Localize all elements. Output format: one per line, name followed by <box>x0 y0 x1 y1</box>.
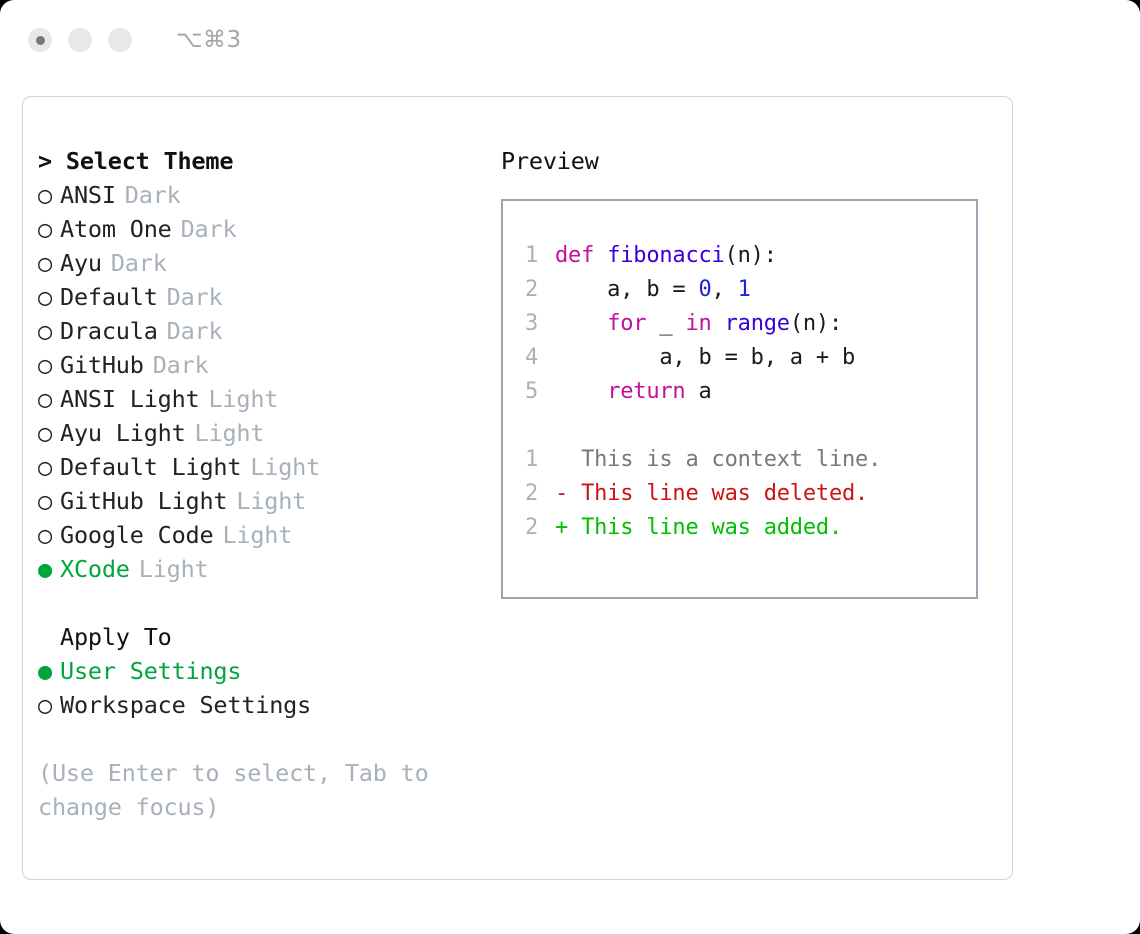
theme-variant-tag: Dark <box>125 178 181 212</box>
panel-columns: > Select Theme ○ANSIDark○Atom OneDark○Ay… <box>23 97 1012 879</box>
app-window: ⌥⌘3 > Select Theme ○ANSIDark○Atom OneDar… <box>0 0 1140 934</box>
theme-list-item[interactable]: ○AyuDark <box>38 246 498 280</box>
diff-line-number: 1 <box>525 443 555 477</box>
select-theme-heading: > Select Theme <box>38 144 498 178</box>
radio-unselected-icon[interactable]: ○ <box>38 688 60 722</box>
code-line-content: def fibonacci(n): <box>555 239 777 273</box>
radio-unselected-icon[interactable]: ○ <box>38 178 60 212</box>
code-line-content: a, b = 0, 1 <box>555 273 751 307</box>
preview-spacer <box>525 409 976 443</box>
radio-unselected-icon[interactable]: ○ <box>38 280 60 314</box>
theme-variant-tag: Light <box>195 416 265 450</box>
code-token-plain <box>555 311 607 336</box>
theme-list-item[interactable]: ○ANSI LightLight <box>38 382 498 416</box>
theme-variant-tag: Light <box>208 382 278 416</box>
radio-selected-icon[interactable]: ● <box>38 552 60 586</box>
preview-column: Preview 1def fibonacci(n):2 a, b = 0, 13… <box>501 144 1001 599</box>
line-number: 3 <box>525 307 555 341</box>
theme-name-label: Default <box>60 280 158 314</box>
diff-line-content-del: - This line was deleted. <box>555 477 868 511</box>
keyboard-shortcut-label: ⌥⌘3 <box>176 27 242 53</box>
code-token-plain: a, b = b, a + b <box>555 345 855 370</box>
code-token-kw: def <box>555 243 594 268</box>
keyboard-hint-text: (Use Enter to select, Tab to change focu… <box>38 756 448 824</box>
radio-unselected-icon[interactable]: ○ <box>38 348 60 382</box>
apply-to-option-label: Workspace Settings <box>60 688 311 722</box>
code-line: 1def fibonacci(n): <box>525 239 976 273</box>
radio-unselected-icon[interactable]: ○ <box>38 450 60 484</box>
theme-name-label: GitHub Light <box>60 484 227 518</box>
code-token-plain: (n): <box>790 311 842 336</box>
window-dot-active[interactable] <box>28 28 52 52</box>
apply-to-section: Apply To ●User Settings○Workspace Settin… <box>38 620 498 722</box>
preview-heading: Preview <box>501 144 1001 178</box>
theme-list-item[interactable]: ○GitHubDark <box>38 348 498 382</box>
radio-selected-icon[interactable]: ● <box>38 654 60 688</box>
code-token-plain: a, b = <box>555 277 699 302</box>
code-token-kw: for <box>607 311 646 336</box>
diff-line-content-ctx: This is a context line. <box>555 443 881 477</box>
code-token-kw: return <box>607 379 685 404</box>
code-token-plain: _ <box>646 311 685 336</box>
theme-variant-tag: Light <box>222 518 292 552</box>
theme-name-label: GitHub <box>60 348 144 382</box>
window-dot-2[interactable] <box>68 28 92 52</box>
main-panel: > Select Theme ○ANSIDark○Atom OneDark○Ay… <box>22 96 1013 880</box>
apply-to-option-label: User Settings <box>60 654 241 688</box>
code-sample-block: 1def fibonacci(n):2 a, b = 0, 13 for _ i… <box>525 239 976 409</box>
radio-unselected-icon[interactable]: ○ <box>38 484 60 518</box>
diff-line-number: 2 <box>525 477 555 511</box>
code-line: 4 a, b = b, a + b <box>525 341 976 375</box>
code-line: 2 a, b = 0, 1 <box>525 273 976 307</box>
theme-name-label: XCode <box>60 552 130 586</box>
line-number: 4 <box>525 341 555 375</box>
theme-name-label: ANSI <box>60 178 116 212</box>
theme-list-item[interactable]: ○DraculaDark <box>38 314 498 348</box>
theme-name-label: Atom One <box>60 212 172 246</box>
diff-line: 2+ This line was added. <box>525 511 976 545</box>
theme-selector-column: > Select Theme ○ANSIDark○Atom OneDark○Ay… <box>38 144 498 824</box>
apply-to-list: ●User Settings○Workspace Settings <box>38 654 498 722</box>
code-line: 5 return a <box>525 375 976 409</box>
theme-variant-tag: Dark <box>153 348 209 382</box>
code-line-content: return a <box>555 375 712 409</box>
line-number: 1 <box>525 239 555 273</box>
window-dot-active-inner <box>36 36 45 45</box>
radio-unselected-icon[interactable]: ○ <box>38 314 60 348</box>
theme-name-label: Ayu <box>60 246 102 280</box>
theme-list-item[interactable]: ○Atom OneDark <box>38 212 498 246</box>
radio-unselected-icon[interactable]: ○ <box>38 382 60 416</box>
code-token-plain <box>594 243 607 268</box>
theme-list-item[interactable]: ○ANSIDark <box>38 178 498 212</box>
code-token-plain: , <box>712 277 738 302</box>
theme-list-item[interactable]: ○Google CodeLight <box>38 518 498 552</box>
theme-list-item[interactable]: ●XCodeLight <box>38 552 498 586</box>
theme-variant-tag: Light <box>139 552 209 586</box>
theme-list-item[interactable]: ○DefaultDark <box>38 280 498 314</box>
code-token-num: 1 <box>738 277 751 302</box>
code-token-plain <box>555 379 607 404</box>
theme-variant-tag: Light <box>250 450 320 484</box>
window-dot-3[interactable] <box>108 28 132 52</box>
apply-to-option[interactable]: ○Workspace Settings <box>38 688 498 722</box>
theme-variant-tag: Light <box>236 484 306 518</box>
theme-variant-tag: Dark <box>167 314 223 348</box>
diff-sample-block: 1 This is a context line.2- This line wa… <box>525 443 976 545</box>
line-number: 2 <box>525 273 555 307</box>
diff-line: 1 This is a context line. <box>525 443 976 477</box>
line-number: 5 <box>525 375 555 409</box>
radio-unselected-icon[interactable]: ○ <box>38 246 60 280</box>
theme-name-label: Ayu Light <box>60 416 186 450</box>
theme-list-item[interactable]: ○GitHub LightLight <box>38 484 498 518</box>
theme-name-label: ANSI Light <box>60 382 199 416</box>
code-token-plain: a <box>685 379 711 404</box>
theme-name-label: Dracula <box>60 314 158 348</box>
theme-variant-tag: Dark <box>181 212 237 246</box>
code-token-num: 0 <box>699 277 712 302</box>
code-token-plain: (n): <box>725 243 777 268</box>
titlebar: ⌥⌘3 <box>0 0 1140 80</box>
theme-list-item[interactable]: ○Ayu LightLight <box>38 416 498 450</box>
theme-list: ○ANSIDark○Atom OneDark○AyuDark○DefaultDa… <box>38 178 498 586</box>
preview-box: 1def fibonacci(n):2 a, b = 0, 13 for _ i… <box>501 199 978 599</box>
theme-list-item[interactable]: ○Default LightLight <box>38 450 498 484</box>
radio-unselected-icon[interactable]: ○ <box>38 416 60 450</box>
apply-to-option[interactable]: ●User Settings <box>38 654 498 688</box>
theme-variant-tag: Dark <box>167 280 223 314</box>
code-line: 3 for _ in range(n): <box>525 307 976 341</box>
code-line-content: a, b = b, a + b <box>555 341 855 375</box>
diff-line: 2- This line was deleted. <box>525 477 976 511</box>
code-token-plain <box>712 311 725 336</box>
radio-unselected-icon[interactable]: ○ <box>38 212 60 246</box>
theme-name-label: Default Light <box>60 450 241 484</box>
code-token-fn: fibonacci <box>607 243 724 268</box>
diff-line-content-add: + This line was added. <box>555 511 842 545</box>
code-line-content: for _ in range(n): <box>555 307 842 341</box>
radio-unselected-icon[interactable]: ○ <box>38 518 60 552</box>
diff-line-number: 2 <box>525 511 555 545</box>
apply-to-heading: Apply To <box>38 620 498 654</box>
theme-name-label: Google Code <box>60 518 213 552</box>
code-token-fn: range <box>725 311 790 336</box>
theme-variant-tag: Dark <box>111 246 167 280</box>
code-token-kw: in <box>685 311 711 336</box>
